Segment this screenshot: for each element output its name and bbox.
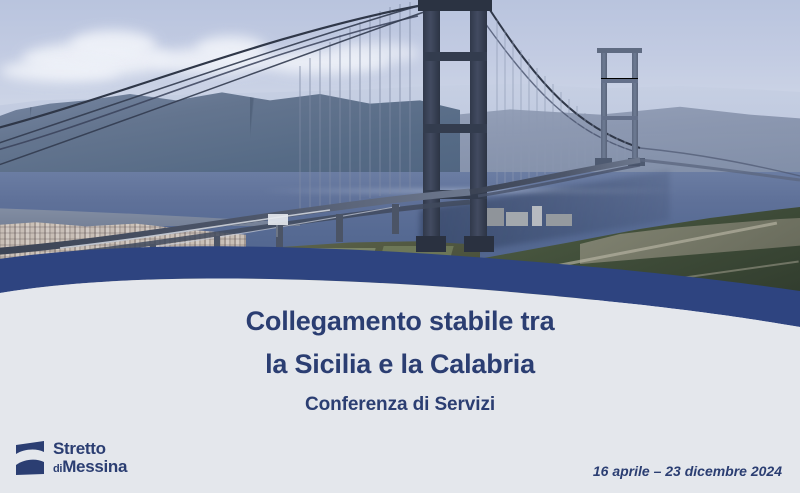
logo-line-2-prefix: di (53, 463, 62, 475)
event-dates: 16 aprile – 23 dicembre 2024 (593, 463, 782, 479)
logo-stretto-di-messina[interactable]: Stretto diMessina (14, 439, 127, 477)
deck-guardrail (60, 210, 330, 248)
logo-line-2: diMessina (53, 458, 127, 476)
title-slide: Collegamento stabile tra la Sicilia e la… (0, 0, 800, 493)
page-subtitle: Conferenza di Servizi (0, 394, 800, 416)
bridge-deck-mark-icon (14, 439, 46, 477)
page-title: Collegamento stabile tra la Sicilia e la… (0, 300, 800, 386)
hanger-cables-left (300, 2, 410, 212)
bridge-deck-approach-lower (0, 202, 470, 262)
bridge-deck-approach (0, 192, 470, 252)
bridge-far-tower (595, 48, 645, 166)
bridge-deck-main-span-lower (478, 165, 640, 196)
title-line-2: la Sicilia e la Calabria (0, 343, 800, 386)
suspension-bridge (0, 0, 800, 300)
main-cable-center-rear (480, 16, 636, 152)
logo-wordmark: Stretto diMessina (53, 440, 127, 475)
title-line-1: Collegamento stabile tra (0, 300, 800, 343)
logo-line-1: Stretto (53, 440, 127, 458)
slide-content: Collegamento stabile tra la Sicilia e la… (0, 300, 800, 493)
bridge-deck-main-span (470, 160, 640, 192)
logo-line-2-main: Messina (62, 457, 127, 476)
bridge-near-tower (416, 0, 494, 252)
